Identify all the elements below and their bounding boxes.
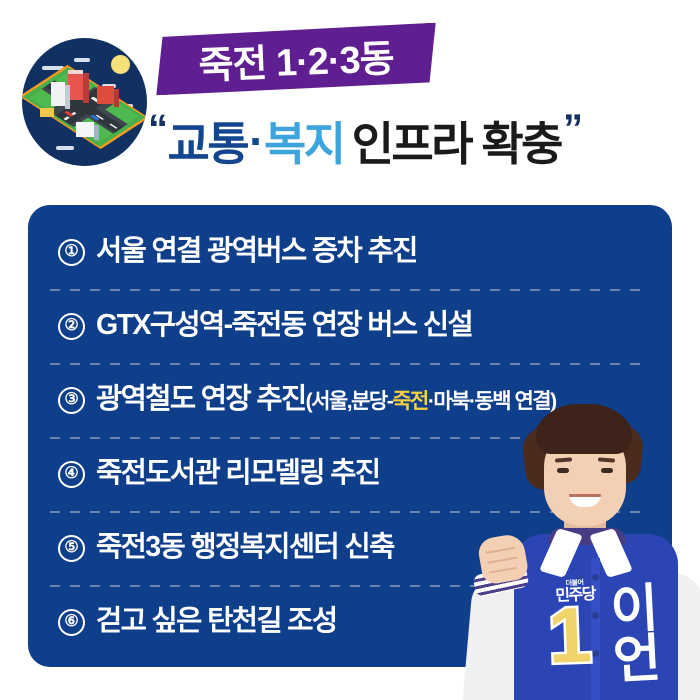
slogan-part-welfare: 복지 xyxy=(264,108,344,174)
pledge-text-wrapper: 서울 연결 광역버스 증차 추진 xyxy=(96,236,417,267)
isometric-city-illustration-icon xyxy=(22,38,147,166)
slogan-part-traffic: 교통 xyxy=(168,108,248,174)
pledge-text: 서울 연결 광역버스 증차 추진 xyxy=(96,235,417,267)
close-quote: ” xyxy=(563,108,581,150)
building-icon xyxy=(76,122,94,137)
list-item[interactable]: ⑤ 죽전3동 행정복지센터 신축 xyxy=(28,511,672,585)
pledge-text: GTX구성역-죽전동 연장 버스 신설 xyxy=(96,309,472,341)
pledge-number: ⑤ xyxy=(58,535,85,562)
open-quote: “ xyxy=(148,108,166,150)
pledge-subtext-highlight: 죽전 xyxy=(392,390,428,413)
pledge-text: 걷고 싶은 탄천길 조성 xyxy=(96,605,337,637)
district-ribbon: 죽전 1·2·3동 xyxy=(154,23,438,96)
list-item[interactable]: ③ 광역철도 연장 추진(서울,분당-죽전·마북·동백 연결) xyxy=(28,363,672,437)
slogan-separator: · xyxy=(247,114,264,168)
list-item[interactable]: ② GTX구성역-죽전동 연장 버스 신설 xyxy=(28,289,672,363)
iso-city-plate xyxy=(34,64,134,149)
pledge-text-wrapper: 죽전3동 행정복지센터 신축 xyxy=(96,532,394,563)
pledge-text-wrapper: 걷고 싶은 탄천길 조성 xyxy=(96,606,337,637)
slogan-part-infra: 인프라 확충 xyxy=(352,108,561,174)
signboard-icon xyxy=(40,108,54,117)
pledge-number: ④ xyxy=(58,461,85,488)
pledge-text: 광역철도 연장 추진 xyxy=(96,383,306,415)
pledge-text-wrapper: 죽전도서관 리모델링 추진 xyxy=(96,458,379,489)
pledge-number: ① xyxy=(58,239,85,266)
pledge-number: ③ xyxy=(58,387,85,414)
building-icon xyxy=(97,86,114,104)
building-icon xyxy=(68,70,83,100)
pledge-subtext-suffix: ·마북·동백 연결) xyxy=(428,390,556,413)
pledge-text-wrapper: GTX구성역-죽전동 연장 버스 신설 xyxy=(96,310,472,341)
pledge-panel: ① 서울 연결 광역버스 증차 추진 ② GTX구성역-죽전동 연장 버스 신설… xyxy=(28,205,672,667)
campaign-poster: 죽전 1·2·3동 “ 교통 · 복지 인프라 확충 ” ① 서울 연결 광역버… xyxy=(0,0,700,700)
poster-header: 죽전 1·2·3동 “ 교통 · 복지 인프라 확충 ” xyxy=(0,0,700,195)
pledge-subtext-prefix: (서울,분당- xyxy=(306,390,393,413)
cloud-icon xyxy=(74,58,90,62)
pledge-text-wrapper: 광역철도 연장 추진(서울,분당-죽전·마북·동백 연결) xyxy=(96,384,556,415)
list-item[interactable]: ⑥ 걷고 싶은 탄천길 조성 xyxy=(28,585,672,659)
slogan: “ 교통 · 복지 인프라 확충 ” xyxy=(148,108,696,174)
pledge-text: 죽전3동 행정복지센터 신축 xyxy=(96,531,394,563)
pledge-list: ① 서울 연결 광역버스 증차 추진 ② GTX구성역-죽전동 연장 버스 신설… xyxy=(28,205,672,667)
list-item[interactable]: ① 서울 연결 광역버스 증차 추진 xyxy=(28,215,672,289)
pledge-number: ⑥ xyxy=(58,609,85,636)
district-ribbon-label: 죽전 1·2·3동 xyxy=(154,22,438,95)
building-icon xyxy=(51,82,65,106)
pledge-number: ② xyxy=(58,313,85,340)
pledge-text: 죽전도서관 리모델링 추진 xyxy=(96,457,379,489)
list-item[interactable]: ④ 죽전도서관 리모델링 추진 xyxy=(28,437,672,511)
